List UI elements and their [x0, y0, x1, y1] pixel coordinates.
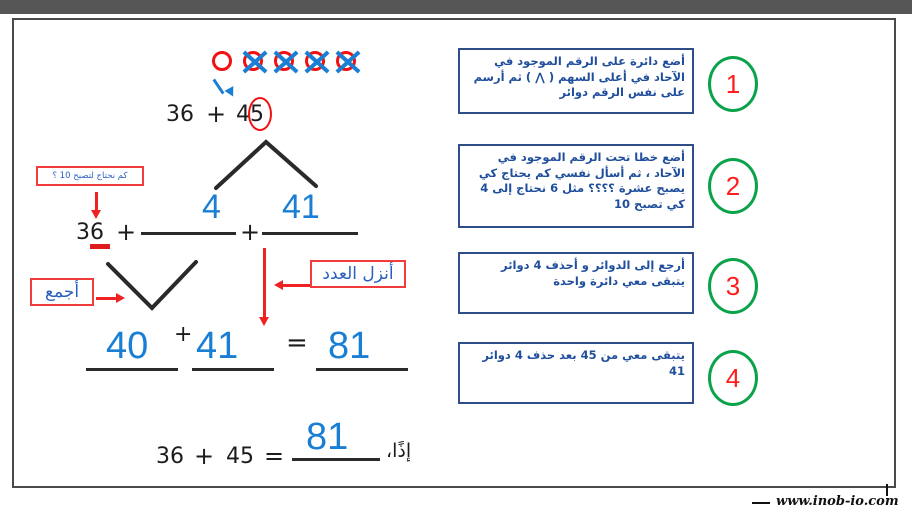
conclusion-plus: +: [194, 442, 214, 470]
counter-circle-3-crossed: [272, 48, 298, 74]
conclusion-therefore: إذًا،: [386, 440, 411, 462]
annotation-arrow-head-3: [274, 280, 283, 290]
second-line-plus-2: +: [240, 218, 260, 246]
counter-circle-1: [210, 48, 236, 74]
instruction-box-4: يتبقى معي من 45 بعد حذف 4 دوائر 41: [458, 342, 694, 404]
result-rule-3: [316, 368, 408, 371]
annotation-arrow-head-2: [116, 293, 125, 303]
annotation-need-to-make-ten: كم نحتاج لتصبح 10 ؟: [36, 166, 144, 186]
instruction-box-2: أضع خطا تحت الرقم الموجود في الآحاد ، ثم…: [458, 144, 694, 228]
slide-canvas: 36 + 45 4 41 36 + + كم نحتاج لتصبح 10 ؟ …: [12, 18, 896, 488]
slide-page: 36 + 45 4 41 36 + + كم نحتاج لتصبح 10 ؟ …: [0, 0, 912, 523]
result-plus: +: [174, 322, 192, 347]
annotation-arrow-line-2: [96, 297, 118, 300]
bring-down-arrow-line: [263, 248, 266, 320]
annotation-add: أجمع: [30, 278, 94, 306]
blank-rule-1: [141, 232, 236, 235]
ones-digit-highlight-ellipse: [248, 97, 272, 131]
top-gray-band: [0, 0, 912, 14]
result-equals: =: [286, 328, 308, 358]
decomposition-part-right: 41: [282, 188, 320, 227]
conclusion-equals: =: [264, 442, 284, 470]
instruction-box-3: أرجع إلى الدوائر و أحذف 4 دوائر يتبقى مع…: [458, 252, 694, 314]
counters-row: [210, 48, 365, 74]
conclusion-rule: [292, 458, 380, 461]
second-line-number: 36: [76, 220, 104, 245]
top-left-addend: 36: [166, 102, 194, 127]
step-number-circle-3: 3: [708, 258, 758, 314]
annotation-arrow-line-1: [95, 192, 98, 212]
top-plus-sign: +: [206, 100, 226, 128]
result-sum: 81: [328, 325, 370, 368]
result-right-addend: 41: [196, 325, 238, 368]
decomposition-part-left: 4: [202, 188, 221, 227]
watermark-url: www.inob-io.com: [776, 494, 899, 509]
annotation-bring-down-number: أنزل العدد: [310, 260, 406, 288]
ones-digit-underline: [90, 244, 110, 249]
addition-branch-icon: [102, 258, 202, 314]
circle-icon: [212, 51, 232, 71]
annotation-arrow-head-1: [91, 210, 101, 219]
second-line-plus: +: [116, 218, 136, 246]
annotation-arrow-line-3: [282, 284, 310, 287]
blue-pointer-line: [213, 79, 225, 95]
result-rule-2: [192, 368, 274, 371]
counter-circle-4-crossed: [303, 48, 329, 74]
instruction-box-1: أضع دائرة على الرقم الموجود في الآحاد في…: [458, 48, 694, 114]
step-number-circle-1: 1: [708, 56, 758, 112]
bring-down-arrow-head: [259, 317, 269, 326]
counter-circle-5-crossed: [334, 48, 360, 74]
step-number-circle-4: 4: [708, 350, 758, 406]
conclusion-right-addend: 45: [226, 444, 254, 469]
result-left-addend: 40: [106, 325, 148, 368]
conclusion-left-addend: 36: [156, 444, 184, 469]
result-rule-1: [86, 368, 178, 371]
blue-pointer-head: [224, 86, 237, 99]
counter-circle-2-crossed: [241, 48, 267, 74]
watermark-dash: [752, 502, 770, 504]
conclusion-answer: 81: [306, 416, 348, 459]
step-number-circle-2: 2: [708, 158, 758, 214]
decomposition-branch-icon: [210, 136, 330, 192]
blank-rule-2: [262, 232, 358, 235]
